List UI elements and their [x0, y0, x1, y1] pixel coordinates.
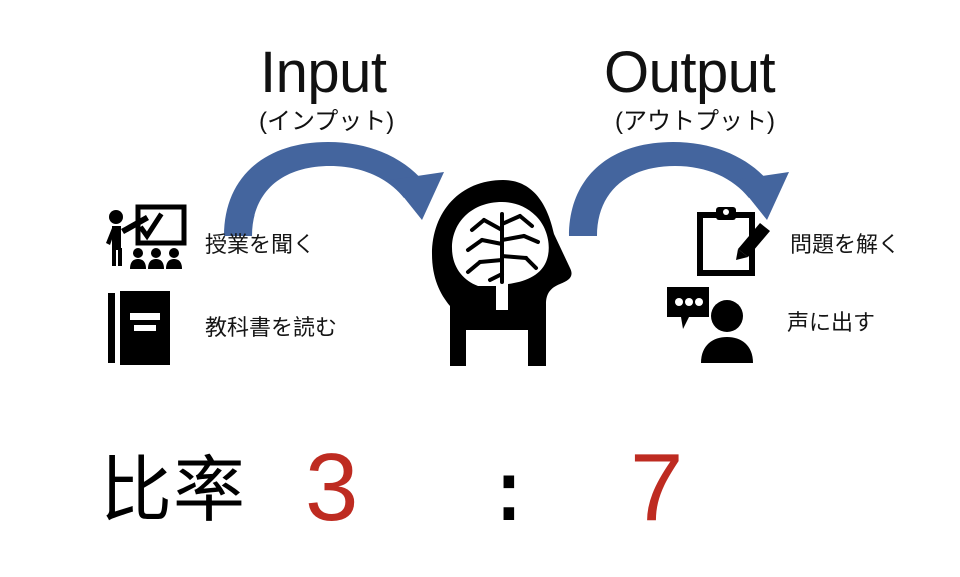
- curved-arrow-right-icon-input: [218, 128, 450, 236]
- textbook-icon: [108, 291, 170, 365]
- person-speech-bubble-icon: [663, 283, 767, 363]
- head-brain-icon: [428, 178, 588, 366]
- slide-canvas: Input (インプット) Output (アウトプット): [0, 0, 960, 577]
- input-item-label-lecture: 授業を聞く: [205, 234, 315, 256]
- output-item-label-voice: 声に出す: [787, 312, 875, 334]
- ratio-separator: :: [483, 448, 535, 534]
- lecture-teacher-icon: [100, 203, 188, 275]
- output-item-label-problem: 問題を解く: [790, 234, 900, 256]
- input-item-label-textbook: 教科書を読む: [205, 317, 337, 339]
- clipboard-pencil-icon: [694, 203, 772, 279]
- input-heading: Input: [260, 44, 387, 102]
- ratio-label: 比率: [100, 455, 246, 527]
- ratio-right-value: 7: [630, 440, 683, 536]
- output-heading: Output: [604, 44, 775, 102]
- ratio-left-value: 3: [305, 440, 358, 536]
